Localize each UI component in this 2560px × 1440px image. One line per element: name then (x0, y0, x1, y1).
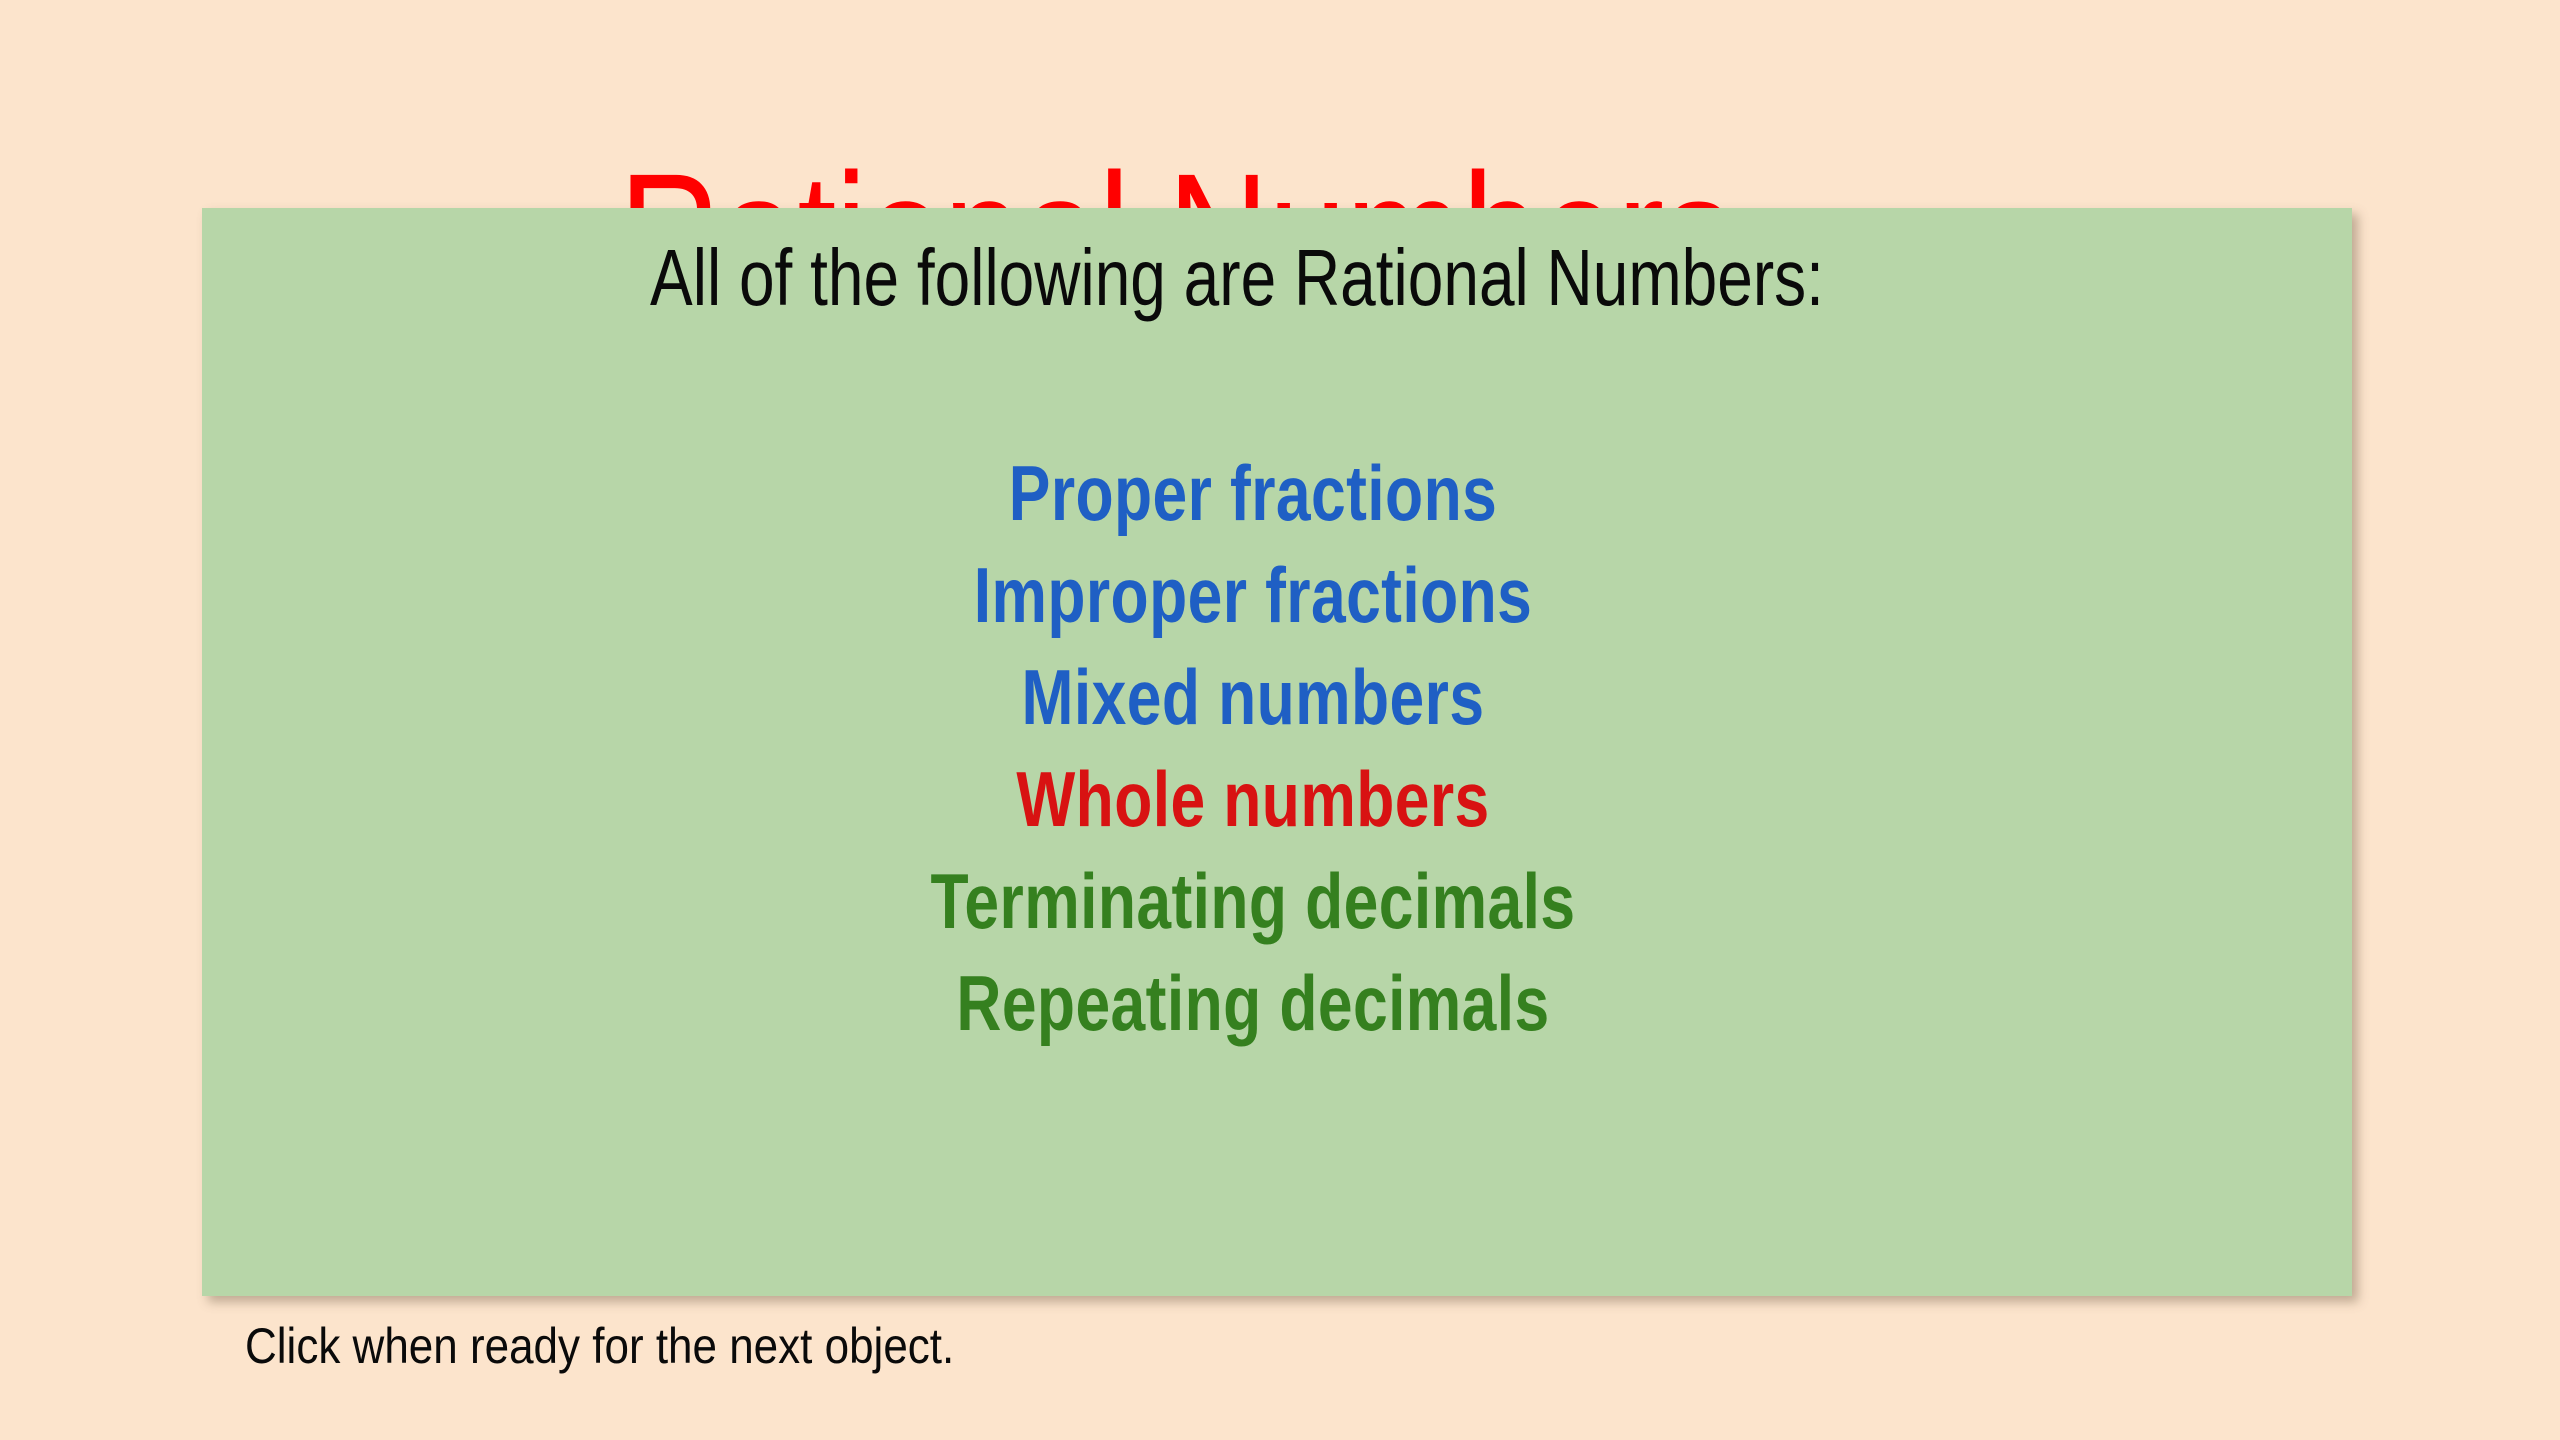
next-object-prompt[interactable]: Click when ready for the next object. (245, 1318, 954, 1374)
list-item-label: Proper fractions (1009, 449, 1497, 537)
panel-subtitle: All of the following are Rational Number… (417, 238, 2137, 318)
list-item: Whole numbers (449, 748, 2057, 850)
list-item: Repeating decimals (449, 952, 2057, 1054)
list-item-label: Improper fractions (974, 551, 1533, 639)
list-item: Terminating decimals (449, 850, 2057, 952)
list-item-label: Whole numbers (1016, 755, 1489, 843)
list-item: Proper fractions (449, 442, 2057, 544)
rational-number-types-list: Proper fractions Improper fractions Mixe… (417, 442, 2137, 1054)
list-item-label: Mixed numbers (1022, 653, 1485, 741)
list-item: Mixed numbers (449, 646, 2057, 748)
list-item-label: Repeating decimals (956, 959, 1549, 1047)
content-panel: All of the following are Rational Number… (202, 208, 2352, 1296)
list-item: Improper fractions (449, 544, 2057, 646)
slide-canvas: Rational Numbers All of the following ar… (0, 0, 2560, 1440)
list-item-label: Terminating decimals (931, 857, 1576, 945)
